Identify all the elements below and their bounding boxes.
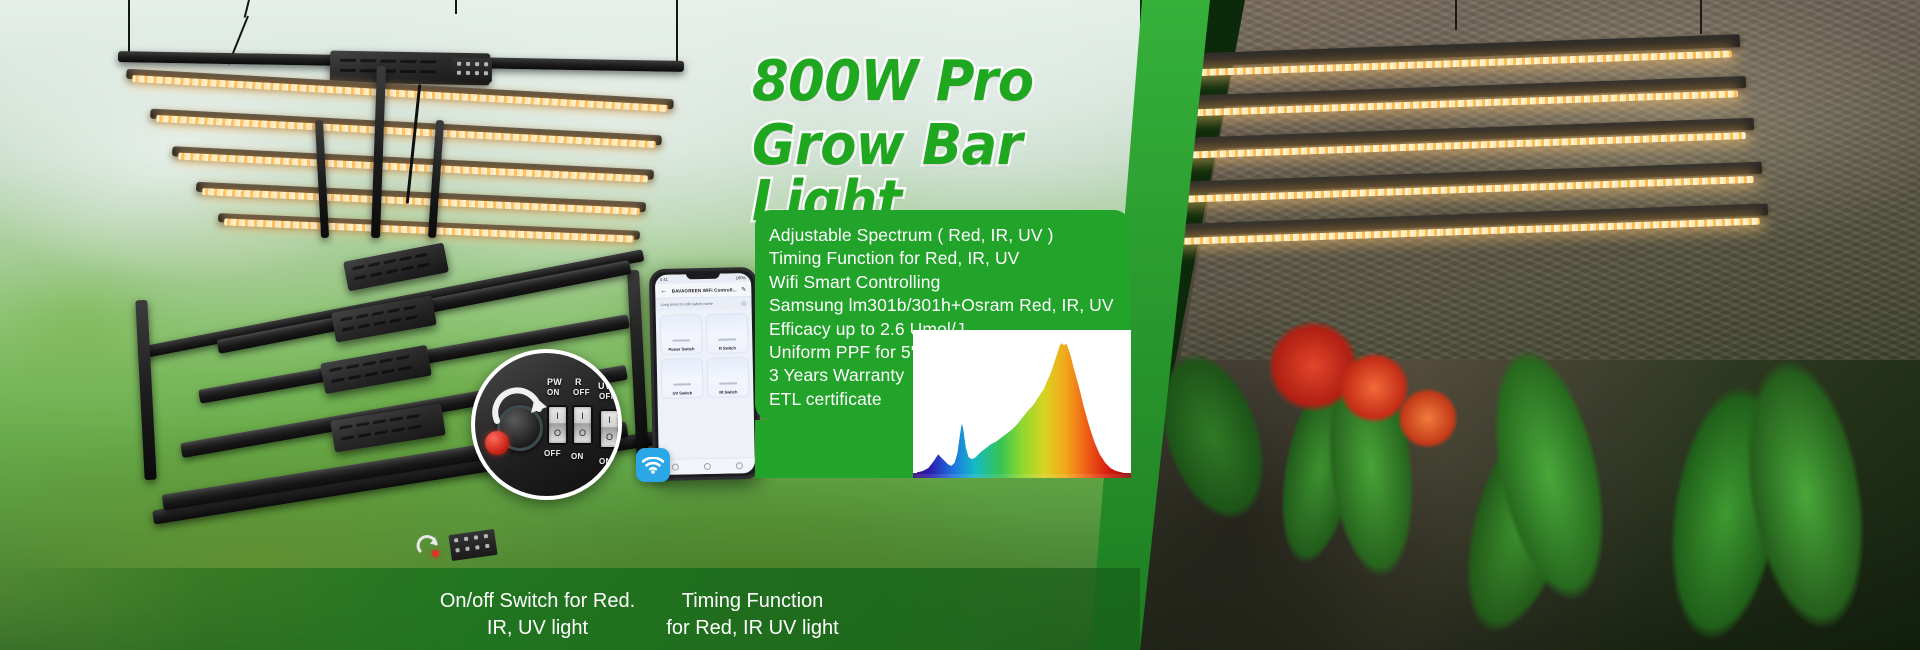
phone-tab-bar xyxy=(659,457,755,475)
toggle-handle[interactable] xyxy=(673,383,691,385)
tile-label-uv: UV Switch xyxy=(662,390,702,396)
switch-sublabel-uv: OFF xyxy=(599,392,616,401)
product-banner: IO IO IO IO PW ON R OFF UV OFF IR OFF OF… xyxy=(0,0,1920,650)
rocker-switch-uv[interactable]: IO xyxy=(599,409,620,449)
phone-hint-text: Long press to edit switch name xyxy=(661,302,713,307)
switch-label-pw: PW xyxy=(547,377,562,387)
rocker-switch-pw[interactable]: IO xyxy=(547,405,568,445)
back-arrow-icon[interactable]: ← xyxy=(660,287,667,294)
tile-label-r: R Switch xyxy=(707,345,747,351)
rotation-arrow-icon xyxy=(489,387,553,427)
switch-label-r: R xyxy=(575,377,582,387)
wifi-icon xyxy=(636,448,670,482)
caption-switch: On/off Switch for Red. IR, UV light xyxy=(430,588,645,642)
caption-timing-line2: for Red, IR UV light xyxy=(645,615,860,642)
feature-item-3: Wifi Smart Controlling xyxy=(769,271,1130,294)
red-power-knob xyxy=(485,431,509,455)
switch-tile-uv[interactable]: UV Switch xyxy=(661,358,704,399)
switch-sublabel-pw: ON xyxy=(547,388,560,397)
toggle-handle[interactable] xyxy=(718,338,736,340)
toggle-handle[interactable] xyxy=(719,382,737,384)
switch-state-on-2: ON xyxy=(599,457,612,466)
tile-label-power: Power Switch xyxy=(661,346,701,352)
feature-item-2: Timing Function for Red, IR, UV xyxy=(769,247,1130,270)
caption-timing: Timing Function for Red, IR UV light xyxy=(645,588,860,642)
switch-state-off: OFF xyxy=(544,449,561,458)
dimmer-knob-icon xyxy=(416,530,440,556)
tab-icon-home[interactable] xyxy=(671,464,678,471)
switch-tile-ir[interactable]: IR Switch xyxy=(707,357,750,398)
toggle-handle[interactable] xyxy=(672,339,690,341)
spectrum-plot xyxy=(913,330,1131,478)
tab-icon-settings[interactable] xyxy=(735,462,742,469)
pencil-icon[interactable]: ✎ xyxy=(741,286,746,293)
switch-label-uv: UV xyxy=(598,381,611,391)
switch-tile-grid: Power Switch R Switch UV Switch IR Switc… xyxy=(656,309,754,403)
feature-item-4: Samsung lm301b/301h+Osram Red, IR, UV xyxy=(769,294,1130,317)
status-battery: 100% xyxy=(736,275,746,280)
phone-notch xyxy=(686,271,720,280)
phone-screen: 5:41 100% ← BAVAGREEN WiFi Controll... ✎… xyxy=(655,273,755,475)
rocker-switch-r[interactable]: IO xyxy=(572,405,593,445)
tab-icon-timer[interactable] xyxy=(703,463,710,470)
switch-tile-power[interactable]: Power Switch xyxy=(660,314,703,355)
tile-label-ir: IR Switch xyxy=(708,389,748,395)
feature-item-1: Adjustable Spectrum ( Red, IR, UV ) xyxy=(769,224,1130,247)
switch-tile-r[interactable]: R Switch xyxy=(706,313,749,354)
caption-switch-line1: On/off Switch for Red. xyxy=(430,588,645,615)
caption-timing-line1: Timing Function xyxy=(645,588,860,615)
headline-line-1: 800W Pro xyxy=(752,54,1147,110)
info-circle-icon[interactable]: ◎ xyxy=(741,300,746,307)
spectrum-chart xyxy=(913,330,1131,478)
switch-closeup-inset: IO IO IO IO PW ON R OFF UV OFF IR OFF OF… xyxy=(471,349,622,500)
headline: 800W Pro Grow Bar Light xyxy=(752,54,1172,230)
phone-app-title: BAVAGREEN WiFi Controll... xyxy=(672,287,737,293)
switch-state-on-1: ON xyxy=(571,452,584,461)
status-time: 5:41 xyxy=(660,277,668,282)
switch-sublabel-r: OFF xyxy=(573,388,590,397)
caption-switch-line2: IR, UV light xyxy=(430,615,645,642)
